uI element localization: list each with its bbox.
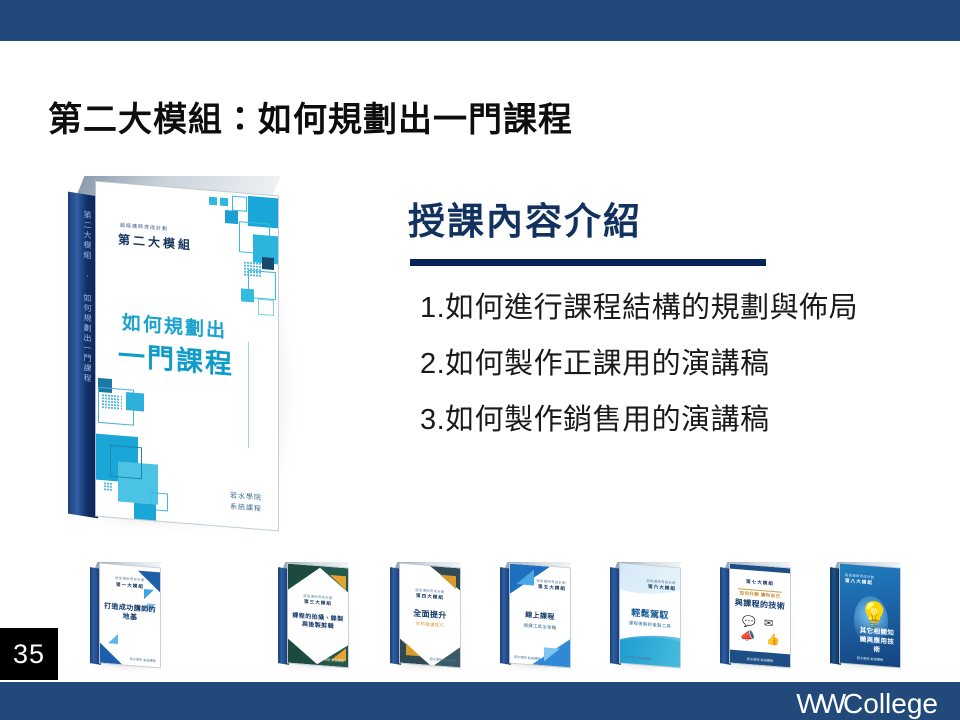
list-item: 2.如何製作正課用的演講稿 xyxy=(420,350,920,379)
book-spine-text: 第二大模組 ‧ 如何規劃出一門課程 xyxy=(75,209,91,385)
shelf-book: 超級講師育成計劃 第三大模組 課程的拍攝、錄製與後製剪輯 若水學院 系統課程 xyxy=(276,562,354,666)
deco-dot-grid xyxy=(104,482,112,490)
deco-triangle xyxy=(288,564,322,593)
book-title: 其它相關知識與應用技術 xyxy=(858,627,896,656)
deco-square xyxy=(241,288,254,302)
shelf-book: 超級講師育成計劃 第一大模組 打造成功講師的地基 若水學院 系統課程 xyxy=(88,562,166,666)
book-front-face: 如何行銷 讓你自己 第七大模組 與課程的技術 💬 ✉ 📣 👍 若水學院 系統課程 xyxy=(730,564,790,668)
deco-triangle xyxy=(100,643,122,665)
deco-triangle xyxy=(108,633,118,644)
deco-square xyxy=(220,198,228,207)
book-spine: 第二大模組 ‧ 如何規劃出一門課程 xyxy=(68,192,98,519)
bullet-list: 1.如何進行課程結構的規劃與佈局 2.如何製作正課用的演講稿 3.如何製作銷售用… xyxy=(420,294,920,462)
book-front-face: 超級講師育成計劃 第六大模組 輕鬆駕馭 課程後期的後製工具 若水學院 系統課程 xyxy=(620,564,680,668)
book-front-face: 超級講師育成計劃 第一大模組 打造成功講師的地基 若水學院 系統課程 xyxy=(100,564,160,668)
book-module-label: 第二大模組 xyxy=(118,230,193,253)
deco-square xyxy=(258,299,274,316)
book-subtitle: 授課工具全攻略 xyxy=(514,622,566,632)
brand-logo-ww: WW xyxy=(796,688,843,719)
book-title: 線上課程 xyxy=(514,610,566,624)
shelf-book: 💡 超級講師育成計劃 第八大模組 其它相關知識與應用技術 若水學院 系統課程 xyxy=(828,562,906,666)
top-accent-bar xyxy=(0,0,960,41)
deco-triangle xyxy=(516,568,534,585)
book-title: 與課程的技術 xyxy=(734,598,786,613)
deco-triangle xyxy=(544,647,560,662)
thumbs-up-icon: 👍 xyxy=(766,632,780,646)
book-front-face: 💡 超級講師育成計劃 第八大模組 其它相關知識與應用技術 若水學院 系統課程 xyxy=(840,564,900,668)
deco-triangle xyxy=(440,575,456,589)
book-front-face: 超級講師育成計劃 第二大模組 如何規劃出 一門課程 若水學院 系統課程 xyxy=(96,182,278,531)
book-footer: 若水學院 系統課程 xyxy=(230,491,262,515)
deco-triangle xyxy=(330,575,346,590)
shelf-book: 超級講師育成計劃 第六大模組 輕鬆駕馭 課程後期的後製工具 若水學院 系統課程 xyxy=(608,562,686,666)
list-item: 1.如何進行課程結構的規劃與佈局 xyxy=(420,294,920,323)
book-footer-line2: 系統課程 xyxy=(230,502,262,515)
brand-logo-college: College xyxy=(843,688,938,719)
book-decor-rule xyxy=(248,342,249,448)
envelope-icon: ✉ xyxy=(764,616,773,630)
shelf-book: 超級講師育成計劃 第五大模組 線上課程 授課工具全攻略 若水學院 系統課程 xyxy=(498,562,576,666)
list-item: 3.如何製作銷售用的演講稿 xyxy=(420,406,920,435)
deco-triangle xyxy=(434,645,460,667)
megaphone-icon: 📣 xyxy=(740,628,755,643)
book-module-label: 第八大模組 xyxy=(845,578,873,586)
deco-square xyxy=(134,503,156,527)
section-heading: 授課內容介紹 xyxy=(408,191,642,245)
deco-square xyxy=(209,197,217,206)
book-front-face: 超級講師育成計劃 第三大模組 課程的拍攝、錄製與後製剪輯 若水學院 系統課程 xyxy=(288,564,348,668)
deco-dot-grid xyxy=(244,262,261,277)
book-title-line2: 一門課程 xyxy=(118,333,234,381)
book-footer: 若水學院 系統課程 xyxy=(514,655,540,661)
book-front-face: 超級講師育成計劃 第五大模組 線上課程 授課工具全攻略 若水學院 系統課程 xyxy=(510,564,570,668)
book-title: 課程的拍攝、錄製與後製剪輯 xyxy=(292,612,344,632)
page-title: 第二大模組：如何規劃出一門課程 xyxy=(48,92,573,141)
slide-canvas: 第二大模組：如何規劃出一門課程 第二大模組 ‧ 如何規劃出一門課程 xyxy=(0,0,960,720)
deco-square xyxy=(126,392,144,411)
shelf-book: 如何行銷 讓你自己 第七大模組 與課程的技術 💬 ✉ 📣 👍 若水學院 系統課程 xyxy=(718,562,796,666)
deco-square xyxy=(232,196,247,212)
section-heading-underline xyxy=(410,259,766,266)
deco-wave xyxy=(620,631,680,668)
deco-triangle xyxy=(288,639,318,665)
speech-bubble-icon: 💬 xyxy=(742,615,756,629)
deco-square xyxy=(225,210,238,224)
shelf-book: 超級講師育成計劃 第四大模組 全面提升 你的授課技巧 若水學院 系統課程 xyxy=(388,562,466,666)
book-title: 打造成功講師的地基 xyxy=(104,602,156,625)
deco-square xyxy=(110,445,142,480)
deco-square xyxy=(262,257,274,270)
module-book-shelf: 超級講師育成計劃 第一大模組 打造成功講師的地基 若水學院 系統課程 超級講師育… xyxy=(0,548,960,680)
book-module-label: 第七大模組 xyxy=(730,578,790,589)
page-number-badge: 35 xyxy=(0,628,58,680)
brand-logo: WWCollege xyxy=(796,688,938,720)
book-front-face: 超級講師育成計劃 第四大模組 全面提升 你的授課技巧 若水學院 系統課程 xyxy=(400,564,460,668)
main-book-cover: 第二大模組 ‧ 如何規劃出一門課程 xyxy=(62,176,302,526)
